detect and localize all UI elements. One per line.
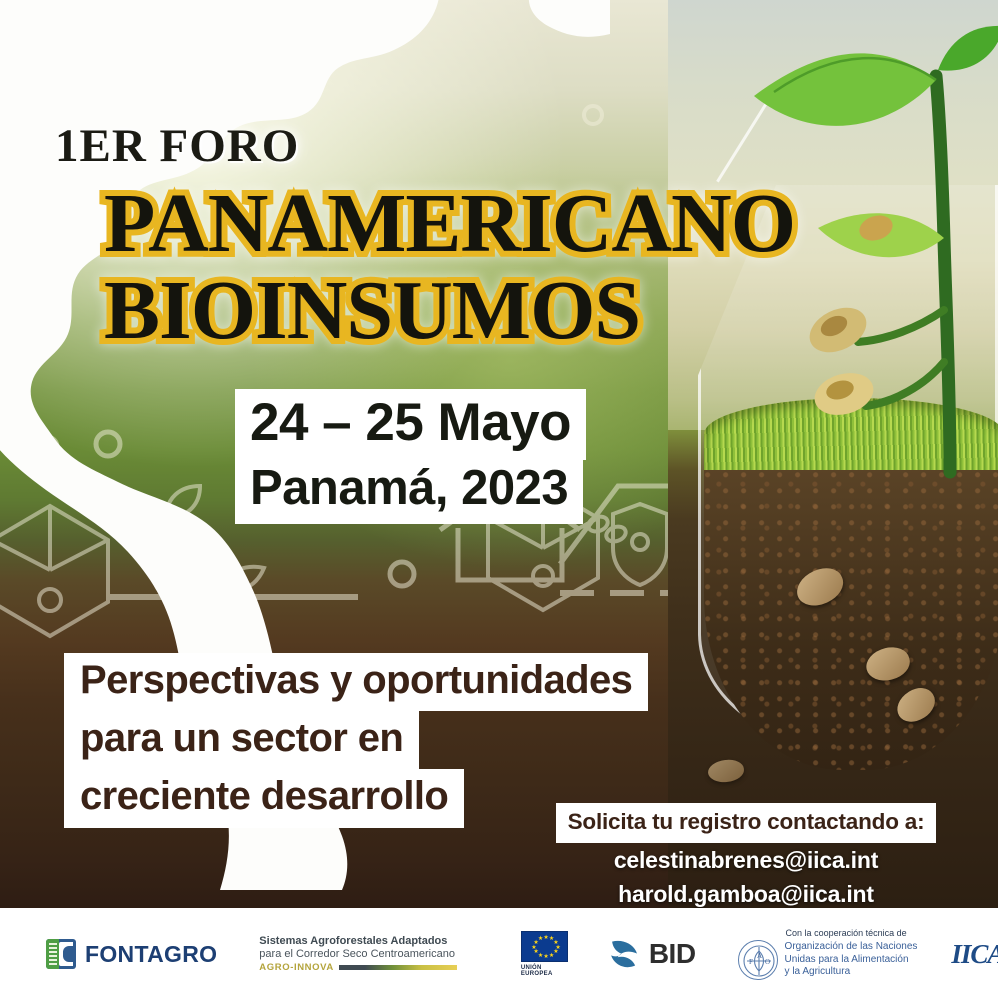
contact-email-2[interactable]: harold.gamboa@iica.int <box>536 881 956 908</box>
contact-email-1[interactable]: celestinabrenes@iica.int <box>536 847 956 874</box>
iica-wordmark: IICA <box>951 939 998 970</box>
logo-bid: BID <box>606 937 696 972</box>
fontagro-wordmark: FONTAGRO <box>85 941 217 968</box>
seedling-photo <box>668 0 998 908</box>
contact-block: Solicita tu registro contactando a: cele… <box>536 806 956 908</box>
title-line-1: PANAMERICANO <box>104 175 795 272</box>
event-date-block: 24 – 25 Mayo Panamá, 2023 <box>240 394 581 519</box>
title-line-2: BIOINSUMOS <box>104 262 640 359</box>
logo-fontagro: FONTAGRO <box>46 939 217 969</box>
svg-text:O: O <box>765 958 770 966</box>
fao-heading: Con la cooperación técnica de <box>786 928 907 938</box>
svg-text:F: F <box>749 958 753 966</box>
tagline-line-2: para un sector en <box>68 715 415 765</box>
eyebrow-text: 1ER FORO <box>55 119 299 173</box>
fao-line-1: Organización de las Naciones <box>785 941 918 954</box>
svg-text:A: A <box>757 952 762 960</box>
footer-logo-bar: FONTAGRO Sistemas Agroforestales Adaptad… <box>0 908 998 1000</box>
fao-line-3: y la Agricultura <box>785 966 918 979</box>
event-date: 24 – 25 Mayo <box>240 394 581 455</box>
tagline-line-1: Perspectivas y oportunidades <box>68 657 644 707</box>
bid-wordmark: BID <box>649 938 696 970</box>
event-location: Panamá, 2023 <box>240 462 578 519</box>
eu-flag-icon: ★ ★ ★ ★ ★ ★ ★ ★ ★ ★ ★ ★ <box>521 931 568 962</box>
bid-mark-icon <box>606 937 644 972</box>
tagline-line-3: creciente desarrollo <box>68 773 460 823</box>
fao-emblem-icon: F A O <box>738 940 778 980</box>
logo-european-union: ★ ★ ★ ★ ★ ★ ★ ★ ★ ★ ★ ★ UNIÓN EUROPEA <box>521 931 568 977</box>
fao-line-2: Unidas para la Alimentación <box>785 954 918 967</box>
agro-innova-line-2: para el Corredor Seco Centroamericano <box>259 948 457 961</box>
eu-caption: UNIÓN EUROPEA <box>521 965 568 977</box>
agro-innova-line-1: Sistemas Agroforestales Adaptados <box>259 935 457 948</box>
poster: 1ER FORO PANAMERICANO BIOINSUMOS 24 – 25… <box>0 0 998 1000</box>
logo-iica: IICA <box>951 939 998 970</box>
logo-agro-innova: Sistemas Agroforestales Adaptados para e… <box>259 935 457 974</box>
contact-heading: Solicita tu registro contactando a: <box>559 806 934 840</box>
logo-fao: Con la cooperación técnica de F A O Orga… <box>738 928 918 980</box>
agro-innova-gradient-bar <box>339 965 457 970</box>
fontagro-mark-icon <box>46 939 76 969</box>
agro-innova-wordmark: AGRO-INNOVA <box>259 962 334 973</box>
